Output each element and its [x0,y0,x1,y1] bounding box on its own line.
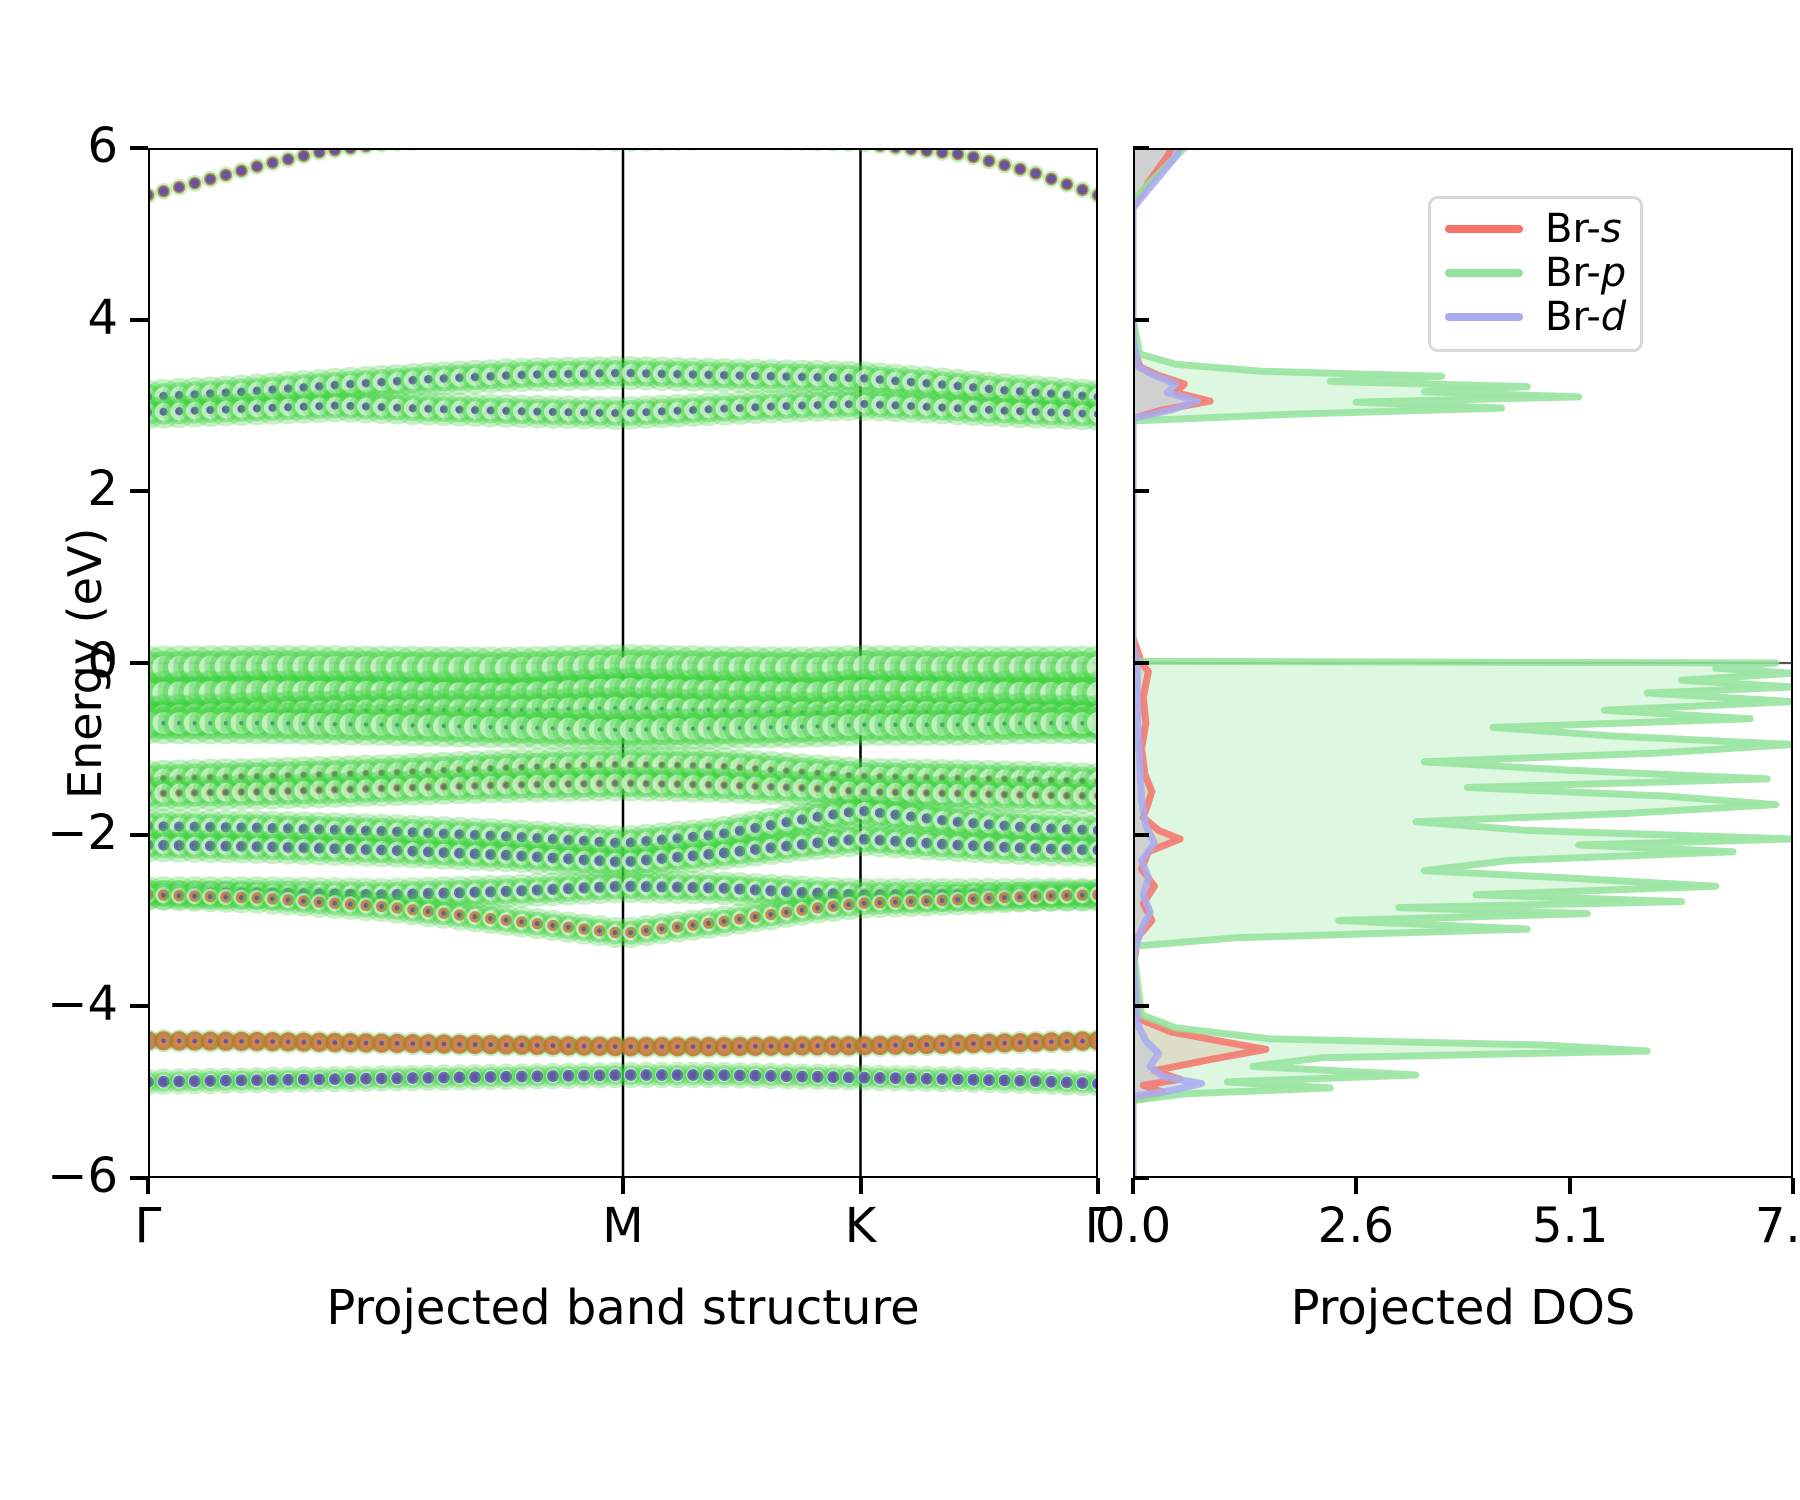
dos-x-tick-label-1: 2.6 [1318,1202,1394,1250]
band-structure-plot [148,148,1098,1178]
legend-swatch-br-s [1445,225,1523,233]
dos-y-tick-mark [1133,1176,1149,1180]
legend-swatch-br-d [1445,313,1523,321]
legend-label-br-s: Br-s [1545,209,1622,249]
dos-y-tick-mark [1133,833,1149,837]
legend-label-br-p: Br-p [1545,253,1626,293]
y-tick-mark [130,661,148,665]
y-tick-mark [130,318,148,322]
dos-y-tick-mark [1133,1004,1149,1008]
dos-x-tick-label-2: 5.1 [1532,1202,1608,1250]
band-x-tick-mark [621,1178,625,1194]
dos-y-tick-mark [1133,661,1149,665]
y-tick-label-3: 0 [87,637,118,685]
dos-x-axis-title: Projected DOS [1291,1284,1636,1332]
band-x-axis-title: Projected band structure [326,1284,919,1332]
dos-x-tick-mark [1568,1178,1572,1194]
legend-item-br-d[interactable]: Br-d [1445,295,1626,339]
dos-x-tick-label-3: 7.7 [1755,1202,1800,1250]
y-tick-label-1: 4 [87,294,118,342]
y-tick-label-6: −6 [47,1152,118,1200]
y-tick-mark [130,1004,148,1008]
dos-y-tick-mark [1133,318,1149,322]
dos-x-tick-mark [1131,1178,1135,1194]
band-x-tick-label-0: Γ [135,1202,162,1250]
y-tick-mark [130,146,148,150]
band-x-tick-label-1: M [602,1202,643,1250]
legend-label-br-d: Br-d [1545,297,1626,337]
y-tick-label-5: −4 [47,980,118,1028]
y-tick-mark [130,489,148,493]
band-x-tick-mark [859,1178,863,1194]
legend: Br-s Br-p Br-d [1428,196,1643,352]
legend-item-br-s[interactable]: Br-s [1445,207,1626,251]
legend-item-br-p[interactable]: Br-p [1445,251,1626,295]
band-x-tick-mark [1096,1178,1100,1194]
dos-x-tick-label-0: 0.0 [1095,1202,1171,1250]
legend-swatch-br-p [1445,269,1523,277]
dos-y-tick-mark [1133,489,1149,493]
figure-root: Energy (eV) 6420−2−4−6ΓMKΓProjected band… [0,0,1800,1500]
dos-y-tick-mark [1133,146,1149,150]
dos-x-tick-mark [1354,1178,1358,1194]
band-x-tick-label-2: K [845,1202,876,1250]
y-tick-label-2: 2 [87,465,118,513]
y-tick-label-4: −2 [47,809,118,857]
y-tick-label-0: 6 [87,122,118,170]
y-tick-mark [130,833,148,837]
dos-x-tick-mark [1791,1178,1795,1194]
band-x-tick-mark [146,1178,150,1194]
